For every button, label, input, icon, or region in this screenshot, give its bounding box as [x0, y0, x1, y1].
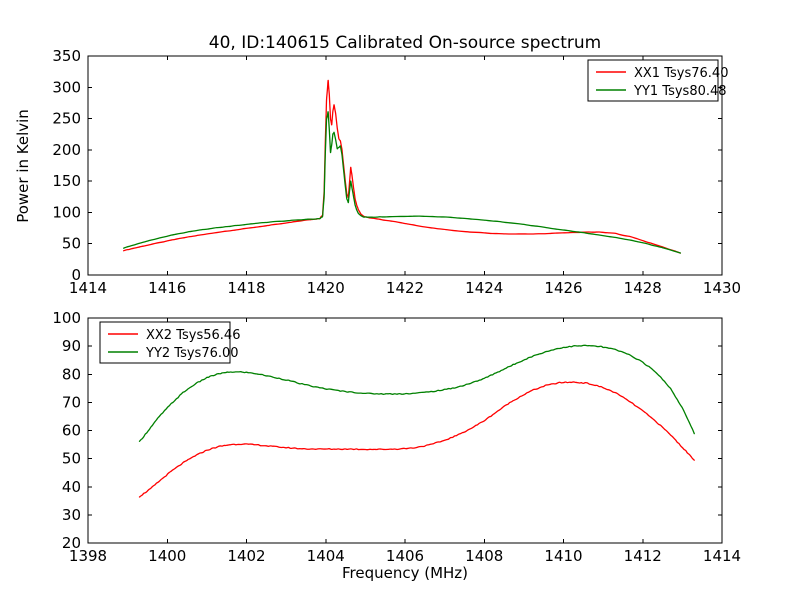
top-ytick-label: 250: [52, 110, 81, 128]
top-panel-legend: XX1 Tsys76.40 YY1 Tsys80.48: [588, 60, 728, 101]
spectrum-plot-canvas: 40, ID:140615 Calibrated On-source spect…: [0, 0, 800, 600]
bottom-xtick-label: 1410: [544, 547, 582, 565]
bottom-panel-x-axis-label: Frequency (MHz): [342, 564, 468, 582]
top-ytick-label: 200: [52, 141, 81, 159]
bottom-ytick-label: 40: [62, 478, 81, 496]
bottom-panel-legend: XX2 Tsys56.46 YY2 Tsys76.00: [100, 322, 240, 363]
top-panel: 1414141614181420142214241426142814300501…: [14, 47, 741, 297]
top-ytick-label: 0: [71, 266, 81, 284]
top-xtick-label: 1416: [148, 279, 186, 297]
bottom-legend-label-yy2: YY2 Tsys76.00: [145, 346, 239, 361]
bottom-panel: 1398140014021404140614081410141214142030…: [52, 309, 741, 582]
bottom-ytick-label: 20: [62, 534, 81, 552]
bottom-xtick-label: 1402: [227, 547, 265, 565]
bottom-legend-label-xx2: XX2 Tsys56.46: [146, 328, 240, 343]
top-legend-label-xx1: XX1 Tsys76.40: [634, 66, 728, 81]
bottom-ytick-label: 30: [62, 506, 81, 524]
bottom-xtick-label: 1406: [386, 547, 424, 565]
bottom-ytick-label: 70: [62, 393, 81, 411]
bottom-ytick-label: 80: [62, 365, 81, 383]
top-ytick-label: 300: [52, 78, 81, 96]
bottom-xtick-label: 1404: [307, 547, 345, 565]
bottom-xtick-label: 1400: [148, 547, 186, 565]
top-xtick-label: 1428: [624, 279, 662, 297]
top-xtick-label: 1422: [386, 279, 424, 297]
page-title: 40, ID:140615 Calibrated On-source spect…: [209, 33, 601, 53]
top-panel-y-axis-label: Power in Kelvin: [14, 109, 32, 223]
top-ytick-label: 350: [52, 47, 81, 65]
bottom-ytick-label: 90: [62, 337, 81, 355]
bottom-xtick-label: 1412: [624, 547, 662, 565]
top-xtick-label: 1424: [465, 279, 503, 297]
bottom-xtick-label: 1414: [703, 547, 741, 565]
bottom-ytick-label: 100: [52, 309, 81, 327]
bottom-ytick-label: 50: [62, 450, 81, 468]
top-xtick-label: 1420: [307, 279, 345, 297]
top-ytick-label: 100: [52, 203, 81, 221]
top-legend-label-yy1: YY1 Tsys80.48: [633, 84, 727, 99]
top-ytick-label: 50: [62, 235, 81, 253]
top-xtick-label: 1418: [227, 279, 265, 297]
top-ytick-label: 150: [52, 172, 81, 190]
top-xtick-label: 1430: [703, 279, 741, 297]
top-xtick-label: 1426: [544, 279, 582, 297]
bottom-xtick-label: 1408: [465, 547, 503, 565]
bottom-ytick-label: 60: [62, 422, 81, 440]
matplotlib-figure: 40, ID:140615 Calibrated On-source spect…: [0, 0, 800, 600]
